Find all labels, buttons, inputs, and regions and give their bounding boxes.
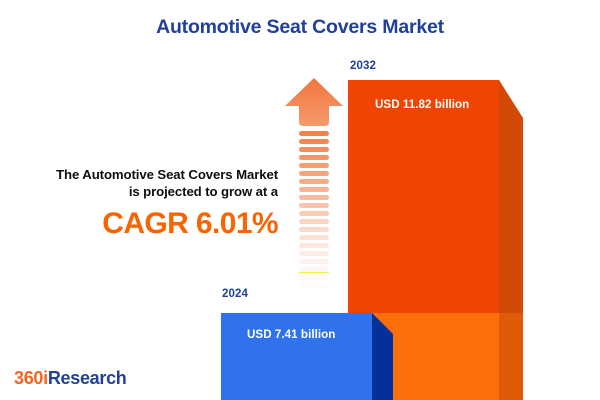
infographic-canvas: Automotive Seat Covers Market — [0, 0, 600, 400]
year-label-2032: 2032 — [350, 60, 376, 72]
brand-logo: 360iResearch — [14, 368, 127, 389]
cagr-value: CAGR 6.01% — [10, 207, 278, 240]
caption-line-2: is projected to grow at a — [10, 183, 278, 200]
value-label-2032: USD 11.82 billion — [375, 98, 469, 111]
year-label-2024: 2024 — [222, 288, 248, 300]
bar-2032-side-3d — [499, 80, 523, 400]
page-title: Automotive Seat Covers Market — [0, 16, 600, 39]
bar-2024-side-3d — [372, 313, 393, 400]
up-arrow-growth-icon — [283, 76, 345, 290]
logo-part-research: Research — [48, 368, 127, 388]
value-label-2024: USD 7.41 billion — [247, 328, 335, 341]
cagr-caption: The Automotive Seat Covers Market is pro… — [10, 166, 278, 240]
caption-line-1: The Automotive Seat Covers Market — [10, 166, 278, 183]
bar-2024-face — [221, 313, 372, 400]
logo-part-360i: 360i — [14, 368, 48, 388]
